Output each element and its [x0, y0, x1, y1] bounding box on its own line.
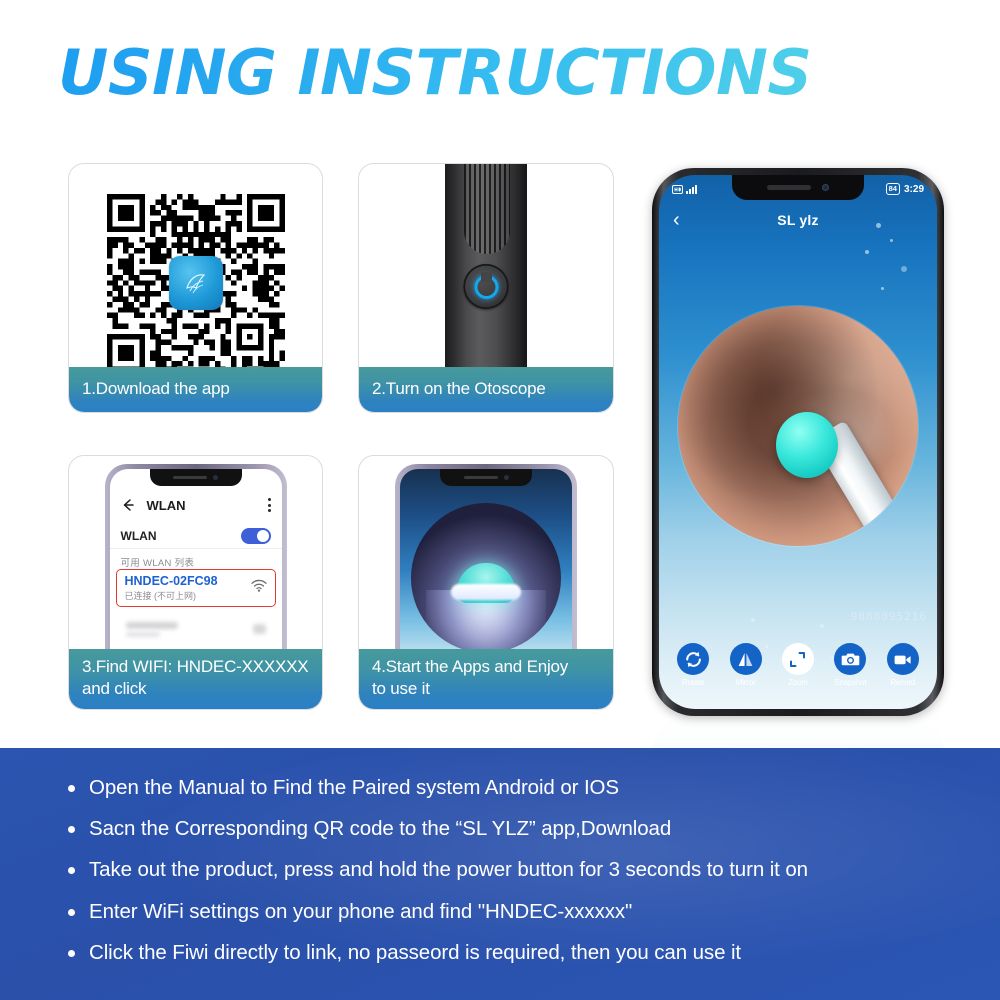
bottom-note-item: Open the Manual to Find the Paired syste… [68, 776, 976, 800]
preview-phone [395, 464, 577, 679]
infographic-page: USING INSTRUCTIONS 1.Download the app [0, 0, 1000, 1000]
signal-strength-icon [686, 185, 697, 194]
wifi-signal-icon [251, 579, 267, 597]
step-2-caption-line1: 2.Turn on the Otoscope [372, 378, 600, 400]
hd-icon [672, 185, 683, 194]
wlan-phone: WLAN WLAN 可用 WLAN 列表 HNDEC-02FC98 已连 [105, 464, 287, 679]
bottom-note-text: Enter WiFi settings on your phone and fi… [89, 900, 632, 924]
wifi-status: 已连接 (不可上网) [125, 589, 218, 602]
wlan-section-label: 可用 WLAN 列表 [121, 555, 195, 569]
phone-notch [440, 469, 532, 486]
step-3-caption: 3.Find WIFI: HNDEC-XXXXXX and click [69, 649, 322, 709]
qr-code [107, 194, 285, 372]
bullet-icon [68, 909, 75, 916]
step-card-2: 2.Turn on the Otoscope [358, 163, 614, 413]
clock-label: 3:29 [904, 184, 924, 195]
step-2-caption: 2.Turn on the Otoscope [359, 367, 613, 412]
step-4-caption-line1: 4.Start the Apps and Enjoy [372, 656, 600, 678]
device-grip-ridges [464, 164, 510, 254]
earpiece-speaker-icon [767, 185, 811, 190]
rotate-icon [677, 643, 709, 675]
bottom-note-text: Open the Manual to Find the Paired syste… [89, 776, 619, 800]
probe-tip [776, 412, 838, 478]
earpiece-speaker-icon [464, 476, 498, 480]
battery-icon: 84 [886, 183, 900, 195]
wlan-toggle-switch[interactable] [241, 528, 271, 544]
earpiece-speaker-icon [173, 476, 207, 480]
phone-frame: 84 3:29 ‹ SL ylz [652, 168, 944, 716]
front-camera-icon [822, 184, 829, 191]
bottom-note-text: Take out the product, press and hold the… [89, 858, 808, 882]
step-card-4: 4.Start the Apps and Enjoy to use it [358, 455, 614, 710]
zoom-label: Zoom [776, 678, 820, 687]
back-chevron-icon[interactable]: ‹ [673, 210, 680, 230]
bullet-icon [68, 785, 75, 792]
camera-toolbar: Rotate Mirror [659, 643, 937, 699]
status-bar-right: 84 3:29 [886, 183, 924, 195]
zoom-button[interactable]: Zoom [776, 643, 820, 687]
record-icon [887, 643, 919, 675]
wlan-toggle-label: WLAN [121, 529, 157, 543]
back-arrow-icon[interactable] [121, 498, 135, 512]
record-label: Record [881, 678, 925, 687]
step-1-caption-line1: 1.Download the app [82, 378, 309, 400]
step-4-caption-line2: to use it [372, 678, 600, 700]
phone-notch [732, 175, 864, 200]
bottom-note-item: Enter WiFi settings on your phone and fi… [68, 900, 976, 924]
wlan-header: WLAN [110, 491, 282, 519]
video-watermark: 9880095216 [851, 610, 927, 623]
zoom-icon [782, 643, 814, 675]
ear-canal-view [678, 306, 918, 546]
step-3-caption-line1: 3.Find WIFI: HNDEC-XXXXXX [82, 656, 309, 678]
step-3-caption-line2: and click [82, 678, 309, 700]
app-logo-icon [169, 256, 223, 310]
step-card-1: 1.Download the app [68, 163, 323, 413]
app-bar: ‹ SL ylz [659, 205, 937, 235]
wlan-header-title: WLAN [147, 498, 186, 513]
power-button[interactable] [464, 264, 509, 309]
scope-flare [451, 584, 521, 600]
bullet-icon [68, 867, 75, 874]
bullet-icon [68, 950, 75, 957]
demo-phone: 84 3:29 ‹ SL ylz [652, 168, 944, 716]
mirror-button[interactable]: Mirror [724, 643, 768, 687]
bottom-notes-list: Open the Manual to Find the Paired syste… [68, 776, 976, 982]
record-button[interactable]: Record [881, 643, 925, 687]
bottom-note-item: Sacn the Corresponding QR code to the “S… [68, 817, 976, 841]
phone-screen: 84 3:29 ‹ SL ylz [659, 175, 937, 709]
page-title: USING INSTRUCTIONS [58, 36, 812, 109]
snapshot-button[interactable]: Snapshot [828, 643, 872, 687]
step-card-3: WLAN WLAN 可用 WLAN 列表 HNDEC-02FC98 已连 [68, 455, 323, 710]
endoscope-view-circle [411, 503, 561, 653]
mirror-label: Mirror [724, 678, 768, 687]
wlan-phone-screen: WLAN WLAN 可用 WLAN 列表 HNDEC-02FC98 已连 [110, 469, 282, 679]
bottom-notes-panel: Open the Manual to Find the Paired syste… [0, 748, 1000, 1000]
rotate-button[interactable]: Rotate [671, 643, 715, 687]
bottom-note-text: Sacn the Corresponding QR code to the “S… [89, 817, 671, 841]
step-4-caption: 4.Start the Apps and Enjoy to use it [359, 649, 613, 709]
app-title: SL ylz [659, 212, 937, 228]
power-icon [474, 275, 498, 299]
bottom-note-text: Click the Fiwi directly to link, no pass… [89, 941, 741, 965]
front-camera-icon [504, 475, 509, 480]
front-camera-icon [213, 475, 218, 480]
status-bar-left [672, 185, 697, 194]
step-1-caption: 1.Download the app [69, 367, 322, 412]
bottom-note-item: Take out the product, press and hold the… [68, 858, 976, 882]
snapshot-label: Snapshot [828, 678, 872, 687]
wifi-network-row-highlighted[interactable]: HNDEC-02FC98 已连接 (不可上网) [116, 569, 276, 607]
snapshot-icon [834, 643, 866, 675]
bullet-icon [68, 826, 75, 833]
phone-notch [150, 469, 242, 486]
bottom-note-item: Click the Fiwi directly to link, no pass… [68, 941, 976, 965]
rotate-label: Rotate [671, 678, 715, 687]
overflow-menu-icon[interactable] [268, 498, 271, 512]
preview-phone-screen [400, 469, 572, 679]
wifi-network-row-blurred[interactable] [116, 614, 276, 644]
mirror-icon [730, 643, 762, 675]
wifi-ssid: HNDEC-02FC98 [125, 574, 218, 588]
wlan-toggle-row[interactable]: WLAN [110, 523, 282, 549]
